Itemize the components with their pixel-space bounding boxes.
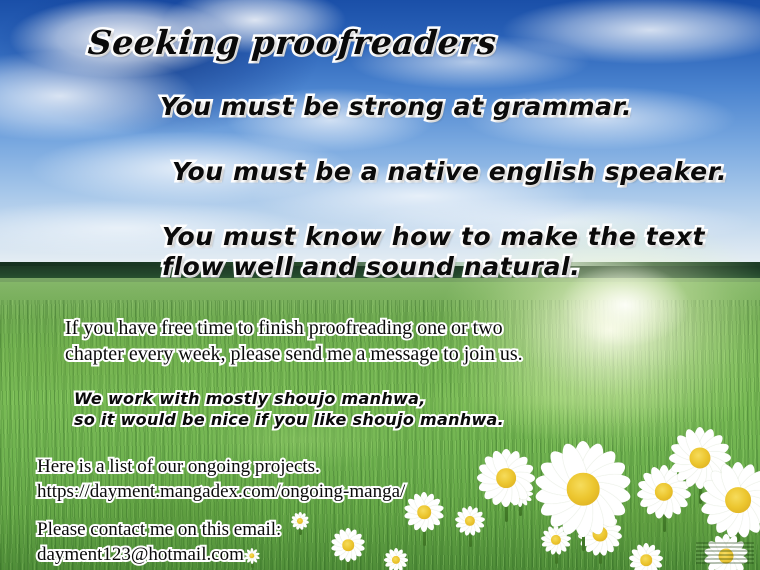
ongoing-projects-label: Here is a list of our ongoing projects. bbox=[37, 456, 320, 477]
contact-label: Please contact me on this email: bbox=[37, 519, 281, 540]
call-to-action-text: If you have free time to finish proofrea… bbox=[65, 315, 523, 367]
ongoing-projects-url[interactable]: https://dayment.mangadex.com/ongoing-man… bbox=[37, 481, 405, 502]
poster-text-layer: Seeking proofreaders You must be strong … bbox=[0, 0, 760, 570]
ongoing-projects-block: Here is a list of our ongoing projects.h… bbox=[37, 455, 405, 504]
proofreader-recruitment-poster: Seeking proofreaders You must be strong … bbox=[0, 0, 760, 570]
poster-title: Seeking proofreaders bbox=[87, 24, 498, 63]
genre-note-text: We work with mostly shoujo manhwa, so it… bbox=[74, 388, 504, 430]
requirement-grammar: You must be strong at grammar. bbox=[160, 92, 632, 122]
requirement-native-speaker: You must be a native english speaker. bbox=[172, 157, 727, 187]
contact-block: Please contact me on this email:dayment1… bbox=[37, 518, 281, 567]
contact-email-address[interactable]: dayment123@hotmail.com bbox=[37, 544, 244, 565]
requirement-text-flow: You must know how to make the text flow … bbox=[162, 222, 705, 281]
